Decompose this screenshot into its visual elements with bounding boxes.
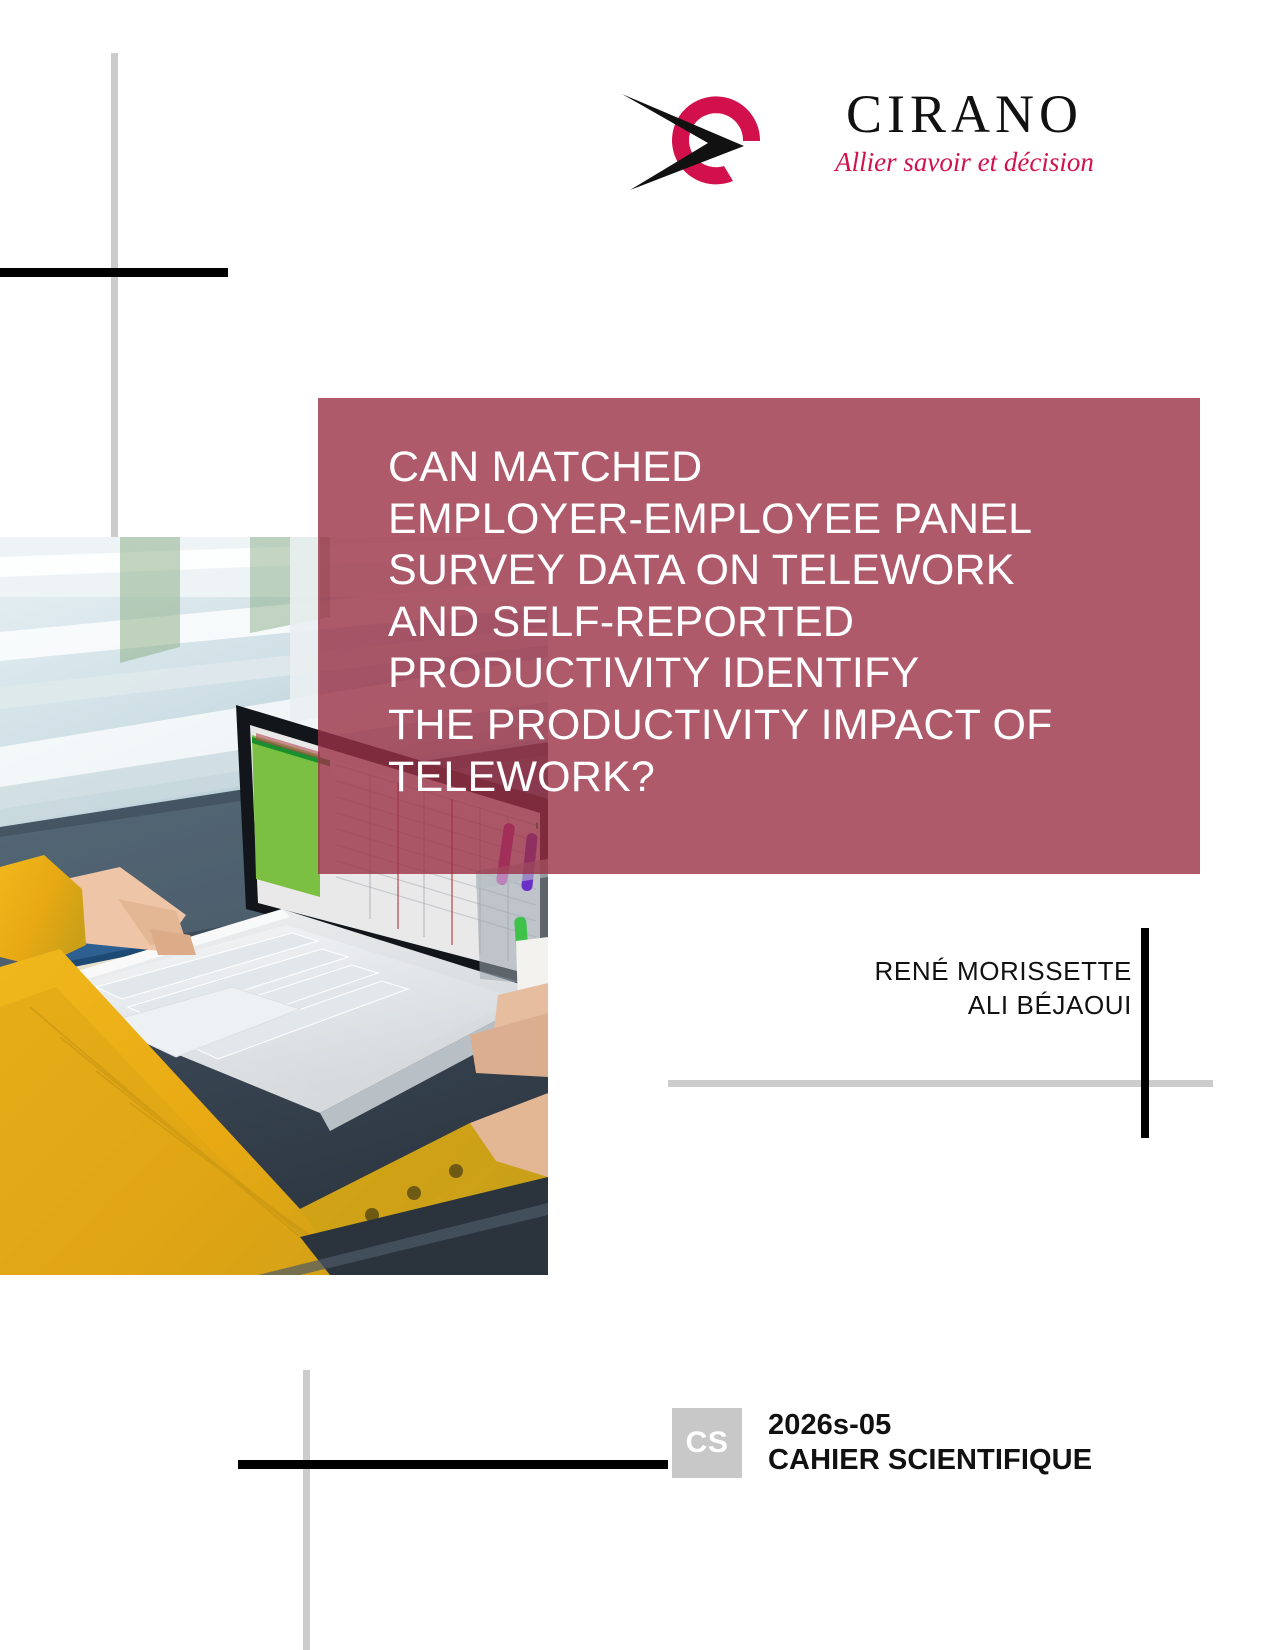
cirano-wordmark-group: CIRANO Allier savoir et décision xyxy=(792,86,1137,178)
title-overlay: CAN MATCHED EMPLOYER-EMPLOYEE PANEL SURV… xyxy=(318,398,1200,874)
authors-block: RENÉ MORISSETTE ALI BÉJAOUI xyxy=(600,955,1132,1023)
author-name-2: ALI BÉJAOUI xyxy=(600,989,1132,1023)
cirano-swoosh-c-icon xyxy=(612,86,772,196)
cirano-logo: CIRANO Allier savoir et décision xyxy=(612,86,1137,201)
decorative-rule-top-horizontal xyxy=(0,268,228,277)
publication-info: 2026s-05 CAHIER SCIENTIFIQUE xyxy=(768,1408,1092,1479)
cirano-wordmark: CIRANO xyxy=(792,86,1137,143)
decorative-rule-authors-vertical xyxy=(1141,928,1149,1138)
decorative-rule-bottom-horizontal xyxy=(238,1460,668,1469)
series-badge: CS xyxy=(672,1408,742,1478)
page-title: CAN MATCHED EMPLOYER-EMPLOYEE PANEL SURV… xyxy=(388,442,1166,803)
publication-number: 2026s-05 xyxy=(768,1408,1092,1443)
decorative-rule-bottom-vertical xyxy=(303,1370,310,1650)
cover-page: CIRANO Allier savoir et décision xyxy=(0,0,1275,1650)
author-name-1: RENÉ MORISSETTE xyxy=(600,955,1132,989)
decorative-rule-authors-horizontal xyxy=(668,1080,1213,1087)
cirano-tagline: Allier savoir et décision xyxy=(792,147,1137,178)
publication-footer: CS 2026s-05 CAHIER SCIENTIFIQUE xyxy=(672,1408,1092,1479)
publication-series: CAHIER SCIENTIFIQUE xyxy=(768,1443,1092,1478)
decorative-rule-top-vertical xyxy=(111,53,118,565)
